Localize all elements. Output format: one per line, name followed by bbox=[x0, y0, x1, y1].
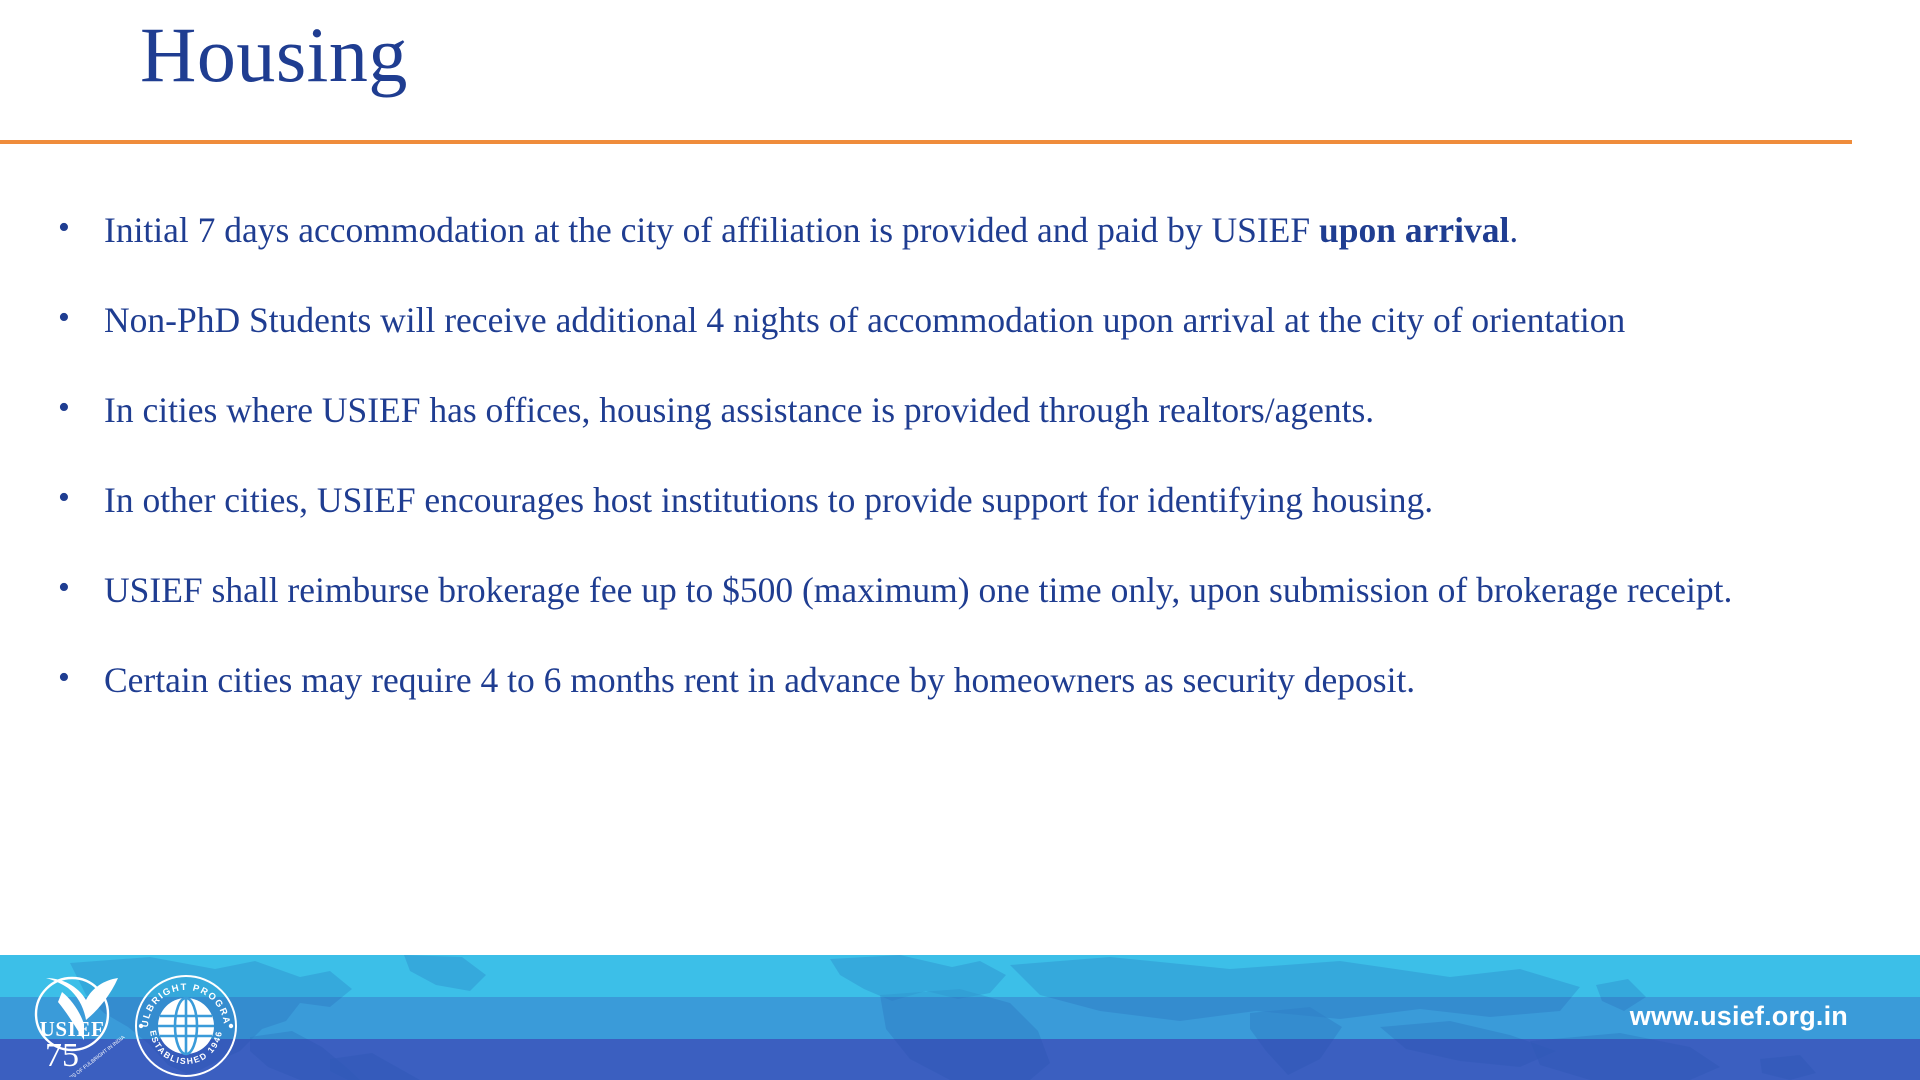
list-item: In cities where USIEF has offices, housi… bbox=[0, 385, 1920, 435]
bullet-text-segment-bold: upon arrival bbox=[1319, 210, 1509, 250]
bullet-text-segment: Non-PhD Students will receive additional… bbox=[104, 300, 1625, 340]
bullet-text-segment: Initial 7 days accommodation at the city… bbox=[104, 210, 1319, 250]
footer-band-bottom bbox=[0, 1039, 1920, 1080]
list-item: Certain cities may require 4 to 6 months… bbox=[0, 655, 1920, 705]
bullet-list: Initial 7 days accommodation at the city… bbox=[0, 205, 1920, 705]
footer-logo-group: USIEF 75 YEARS OF FULBRIGHT IN INDIA bbox=[22, 962, 252, 1077]
page-title: Housing bbox=[140, 14, 408, 96]
bullet-text-segment: Certain cities may require 4 to 6 months… bbox=[104, 660, 1415, 700]
bullet-text-segment: In other cities, USIEF encourages host i… bbox=[104, 480, 1433, 520]
website-url[interactable]: www.usief.org.in bbox=[1630, 1001, 1848, 1032]
slide-footer: USIEF 75 YEARS OF FULBRIGHT IN INDIA bbox=[0, 955, 1920, 1080]
footer-band-top bbox=[0, 955, 1920, 997]
bullet-text-segment: USIEF shall reimburse brokerage fee up t… bbox=[104, 570, 1732, 610]
svg-text:75: 75 bbox=[45, 1037, 79, 1074]
title-divider-rule bbox=[0, 140, 1852, 144]
list-item: Initial 7 days accommodation at the city… bbox=[0, 205, 1920, 255]
fulbright-program-seal-icon: FULBRIGHT PROGRAM ESTABLISHED 1946 bbox=[132, 972, 240, 1080]
usief-logo-icon: USIEF 75 YEARS OF FULBRIGHT IN INDIA bbox=[22, 962, 130, 1077]
title-area: Housing bbox=[0, 0, 1920, 148]
list-item: In other cities, USIEF encourages host i… bbox=[0, 475, 1920, 525]
bullet-text-segment: . bbox=[1509, 210, 1518, 250]
list-item: Non-PhD Students will receive additional… bbox=[0, 295, 1920, 345]
slide: Housing Initial 7 days accommodation at … bbox=[0, 0, 1920, 1080]
bullet-text-segment: In cities where USIEF has offices, housi… bbox=[104, 390, 1374, 430]
list-item: USIEF shall reimburse brokerage fee up t… bbox=[0, 565, 1920, 615]
body-content: Initial 7 days accommodation at the city… bbox=[0, 205, 1920, 945]
